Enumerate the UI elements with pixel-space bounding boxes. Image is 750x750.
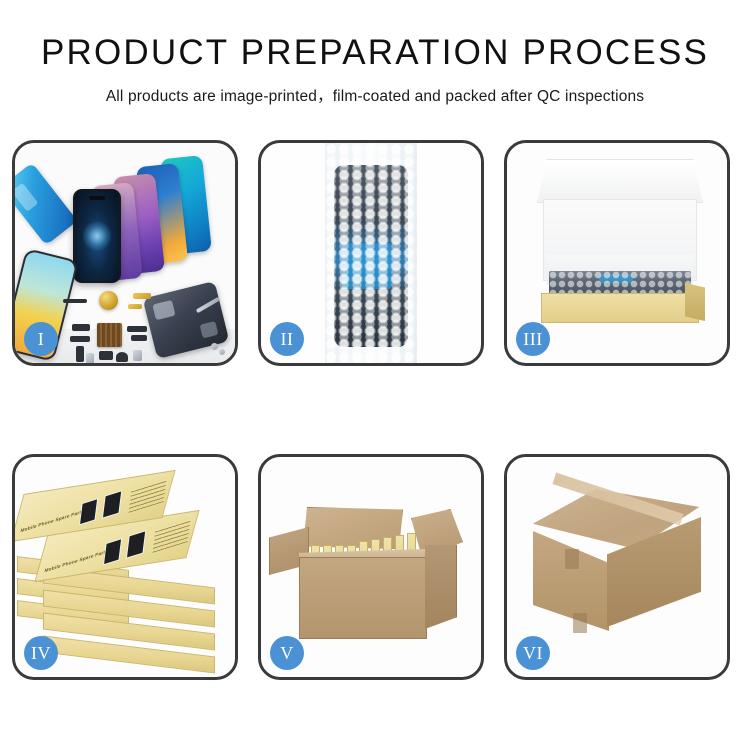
button-part-icon [116, 352, 128, 362]
metal-bracket-part-icon [86, 353, 94, 363]
step-panel-6: VI [504, 454, 730, 680]
carton-front-icon [299, 557, 427, 639]
carton-tab-icon [565, 549, 579, 569]
bubble-wrap-texture-icon [325, 149, 417, 363]
retail-box-label: Mobile Phone Spare Parts [20, 509, 84, 534]
product-preparation-infographic: PRODUCT PREPARATION PROCESS All products… [0, 0, 750, 750]
step-panel-5: V [258, 454, 484, 680]
step-panel-1: I [12, 140, 238, 366]
small-part-icon [70, 336, 90, 342]
page-title: PRODUCT PREPARATION PROCESS [0, 34, 750, 73]
step-panel-2: II [258, 140, 484, 366]
step-number-badge: II [270, 322, 304, 356]
screw-part-icon [211, 343, 218, 350]
metal-bracket-part-icon [133, 350, 142, 361]
carton-tab-icon [573, 613, 587, 633]
step-number-badge: V [270, 636, 304, 670]
step-number-badge: IV [24, 636, 58, 670]
mailer-box-front-icon [541, 293, 699, 323]
step-number-badge: III [516, 322, 550, 356]
mailer-box-lid-icon [537, 159, 703, 203]
step-number-badge: VI [516, 636, 550, 670]
step-number-badge: I [24, 322, 58, 356]
process-steps-grid: I II III [12, 140, 738, 680]
box-artwork-screen-icon [103, 538, 122, 565]
step-panel-4: Mobile Phone Spare Parts Mobile Phone Sp… [12, 454, 238, 680]
step-panel-3: III [504, 140, 730, 366]
header: PRODUCT PREPARATION PROCESS All products… [0, 0, 750, 106]
small-part-icon [72, 324, 90, 331]
box-spec-lines [152, 518, 190, 553]
screw-part-icon [219, 349, 225, 355]
small-part-icon [131, 335, 147, 341]
page-subtitle: All products are image-printed，film-coat… [0, 84, 750, 106]
small-part-icon [76, 346, 84, 362]
box-artwork-screen-icon [79, 498, 98, 525]
mesh-part-icon [97, 323, 122, 347]
gold-connector-part-icon [133, 293, 151, 299]
flex-cable-part-icon [63, 299, 87, 303]
mailer-box-side-icon [685, 283, 705, 321]
speaker-part-icon [99, 291, 118, 310]
small-part-icon [99, 351, 113, 360]
box-artwork-screen-icon [126, 530, 146, 559]
small-part-icon [127, 326, 147, 332]
phone-front-screen-icon [73, 189, 121, 283]
carton-side-icon [425, 545, 457, 629]
box-spec-lines [128, 478, 166, 513]
retail-box-label: Mobile Phone Spare Parts [44, 549, 108, 574]
box-artwork-screen-icon [102, 490, 122, 519]
gold-connector-part-icon [128, 304, 142, 309]
